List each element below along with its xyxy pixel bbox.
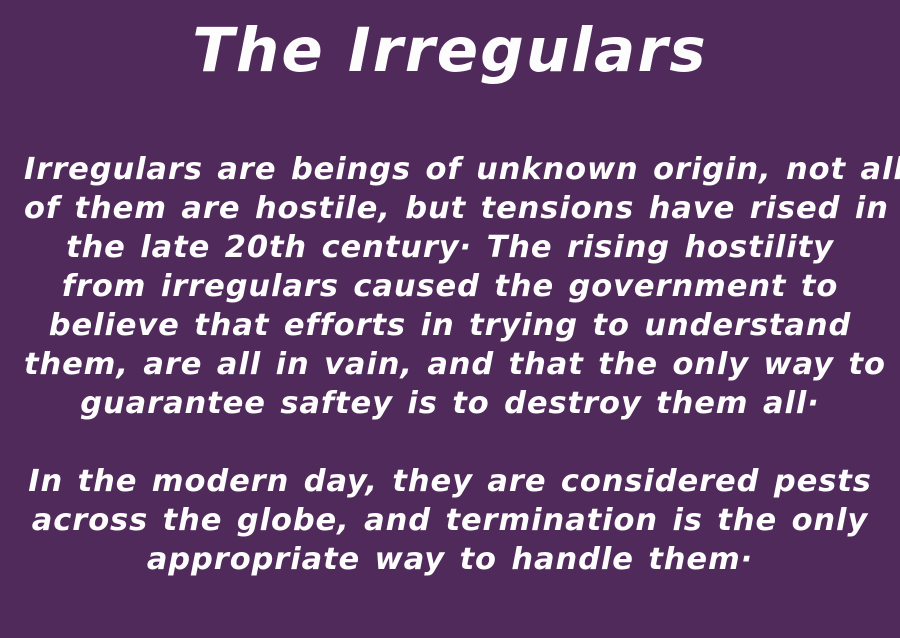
lore-slide: The Irregulars Irregulars are beings of … xyxy=(0,0,900,638)
body-text-block: Irregulars are beings of unknown origin,… xyxy=(0,150,900,579)
text-line: the late 20th century· The rising hostil… xyxy=(24,228,876,267)
text-line: them, are all in vain, and that the only… xyxy=(24,345,876,384)
page-title: The Irregulars xyxy=(0,20,900,81)
text-line: guarantee saftey is to destroy them all· xyxy=(24,384,876,423)
text-line: from irregulars caused the government to xyxy=(24,267,876,306)
text-line: of them are hostile, but tensions have r… xyxy=(24,189,876,228)
text-line: believe that efforts in trying to unders… xyxy=(24,306,876,345)
paragraph-2: In the modern day, they are considered p… xyxy=(24,462,876,579)
paragraph-1: Irregulars are beings of unknown origin,… xyxy=(24,150,876,423)
text-line: across the globe, and termination is the… xyxy=(24,501,876,540)
text-line: In the modern day, they are considered p… xyxy=(24,462,876,501)
text-line: appropriate way to handle them· xyxy=(24,540,876,579)
text-line: Irregulars are beings of unknown origin,… xyxy=(24,150,876,189)
